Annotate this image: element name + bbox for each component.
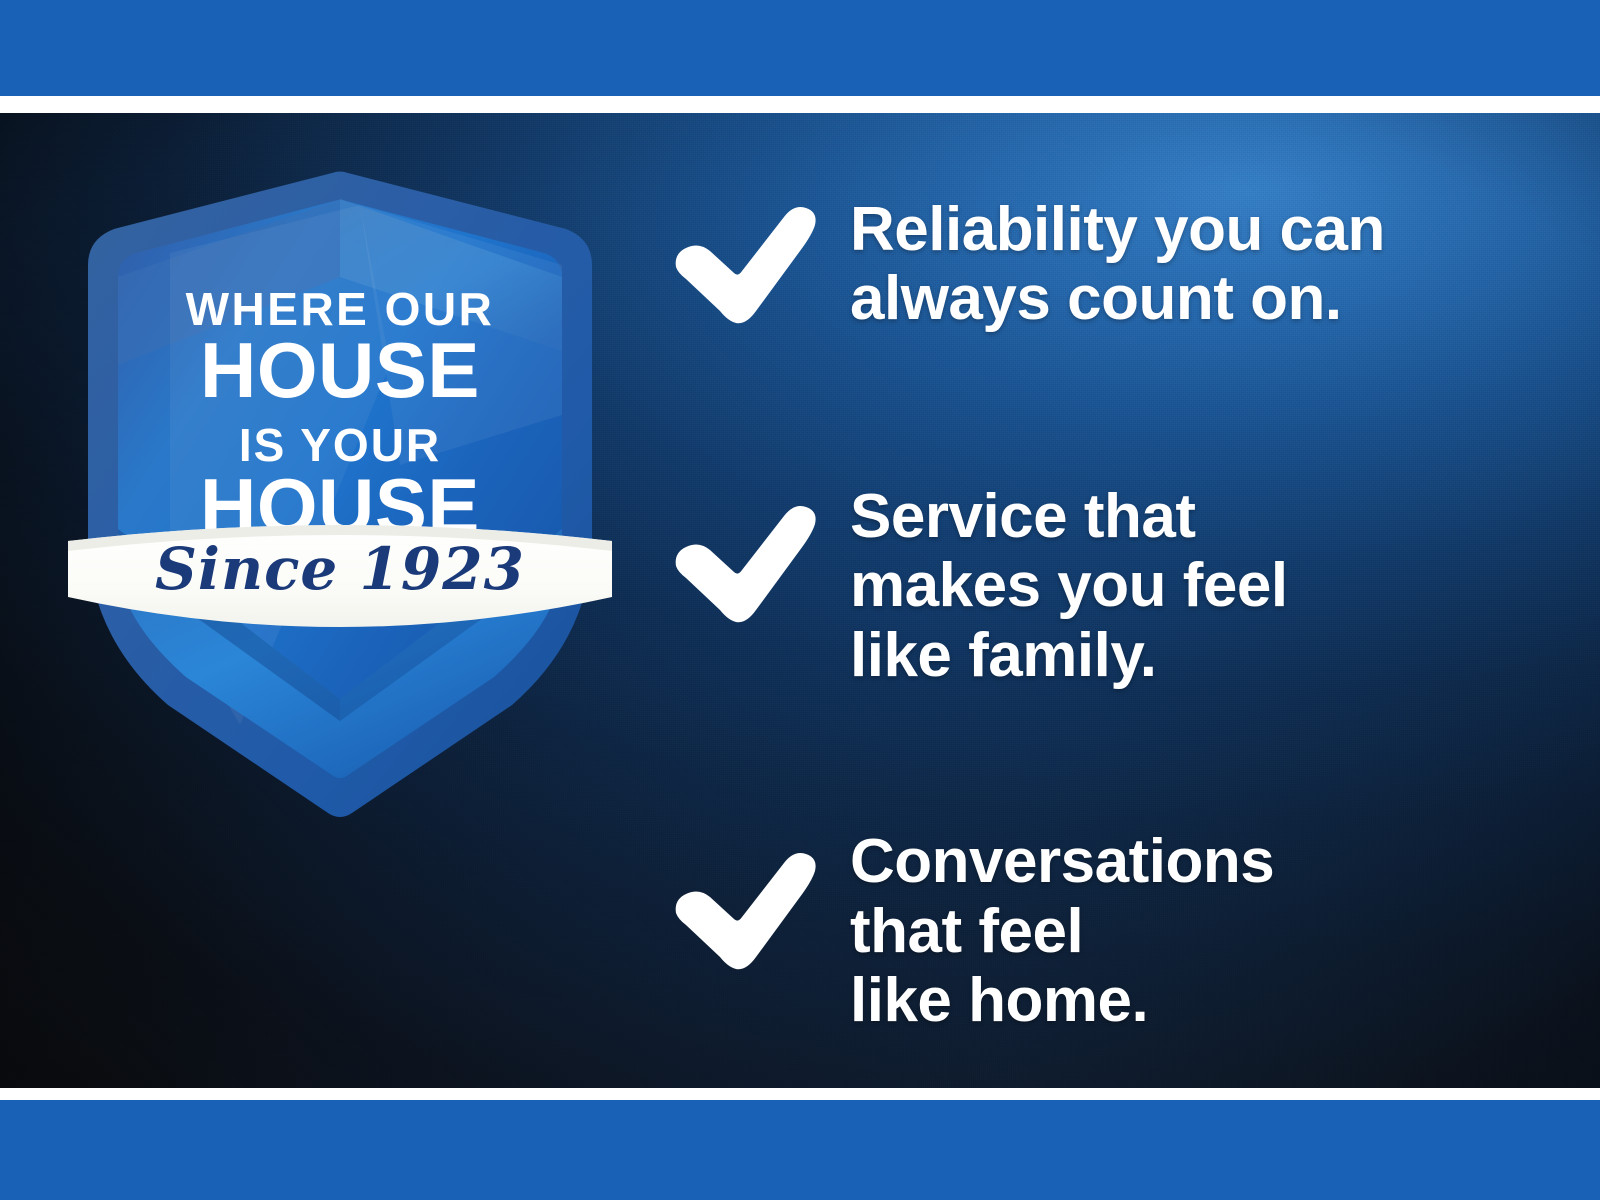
check-icon [672, 502, 820, 628]
check-icon [672, 849, 820, 975]
top-accent-bar [0, 0, 1600, 96]
promotional-banner: WHERE OUR HOUSE IS YOUR HOUSE Since 1923… [0, 0, 1600, 1200]
shield-logo: WHERE OUR HOUSE IS YOUR HOUSE Since 1923 [60, 165, 620, 825]
shield-line-2: HOUSE [200, 326, 480, 414]
benefit-text: Reliability you can always count on. [850, 195, 1552, 334]
benefit-item: Service that makes you feel like family. [672, 482, 1552, 690]
shield-logo-graphic: WHERE OUR HOUSE IS YOUR HOUSE Since 1923 [60, 165, 620, 825]
benefit-text: Conversations that feel like home. [850, 827, 1552, 1035]
benefit-text: Service that makes you feel like family. [850, 482, 1552, 690]
shield-ribbon: Since 1923 [68, 525, 612, 627]
benefit-item: Reliability you can always count on. [672, 195, 1552, 334]
benefits-list: Reliability you can always count on. Ser… [672, 195, 1552, 1036]
bottom-accent-bar [0, 1100, 1600, 1200]
check-icon [672, 203, 820, 329]
benefit-item: Conversations that feel like home. [672, 827, 1552, 1035]
ribbon-since-text: Since 1923 [155, 535, 525, 603]
